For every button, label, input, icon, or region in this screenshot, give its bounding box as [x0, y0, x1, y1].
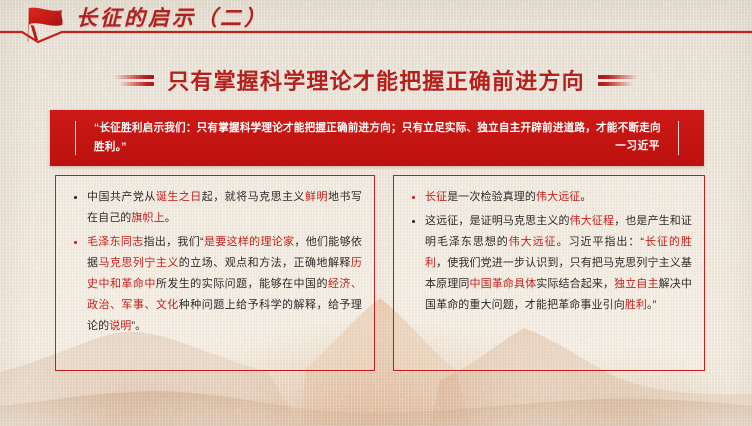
body-text: 起，就将马克思主义	[202, 191, 305, 203]
title-decoration-right-icon	[598, 73, 638, 88]
body-text: 这远征，是证明马克思主义的	[425, 215, 570, 227]
highlighted-text: 说明	[109, 320, 131, 332]
quote-accent-bar-left	[75, 121, 76, 155]
highlighted-text: 伟大征程	[570, 215, 615, 227]
left-content-box: 中国共产党从诞生之日起，就将马克思主义鲜明地书写在自己的旗帜上。毛泽东同志指出，…	[55, 175, 375, 371]
body-text: 。”	[647, 299, 656, 311]
title-decoration-left-icon	[114, 73, 154, 88]
left-bullet-list: 中国共产党从诞生之日起，就将马克思主义鲜明地书写在自己的旗帜上。毛泽东同志指出，…	[56, 176, 374, 337]
body-text: ”。	[131, 320, 146, 332]
body-text: 所发生的实际问题，能够在中国的	[156, 278, 328, 290]
body-text: 指出，我们“	[144, 236, 204, 248]
body-text: 是一次检验真理的	[447, 191, 536, 203]
body-text: 中国共产党从	[87, 191, 156, 203]
main-title-row: 只有掌握科学理论才能把握正确前进方向	[0, 64, 752, 96]
highlighted-text: 伟大远征	[509, 236, 557, 248]
slide-canvas: 长征的启示（二） 只有掌握科学理论才能把握正确前进方向 “长征胜利启示我们：只有…	[0, 0, 752, 426]
list-item: 长征是一次检验真理的伟大远征。	[404, 187, 692, 208]
highlighted-text: 旗帜上	[131, 212, 164, 224]
body-text: 的立场、观点和方法，正确地解释	[179, 257, 351, 269]
highlighted-text: 诞生之日	[156, 191, 202, 203]
highlighted-text: 毛泽东同志	[87, 236, 144, 248]
body-text: 。习近平指出：“	[557, 236, 645, 248]
quote-banner: “长征胜利启示我们：只有掌握科学理论才能把握正确前进方向；只有立足实际、独立自主…	[50, 110, 704, 166]
highlighted-text: 胜利	[625, 299, 647, 311]
highlighted-text: 马克思列宁主义	[98, 257, 178, 269]
quote-author: 一习近平	[615, 138, 660, 153]
highlighted-text: 是要这样的理论家	[204, 236, 295, 248]
highlighted-text: 伟大远征	[536, 191, 580, 203]
header-title: 长征的启示（二）	[76, 2, 268, 32]
page-title: 只有掌握科学理论才能把握正确前进方向	[167, 64, 585, 96]
highlighted-text: 中国革命具体	[470, 278, 537, 290]
list-item: 这远征，是证明马克思主义的伟大征程，也是产生和证明毛泽东思想的伟大远征。习近平指…	[404, 211, 692, 316]
highlighted-text: 长征	[425, 191, 447, 203]
highlighted-text: 鲜明	[305, 191, 328, 203]
red-flag-icon	[20, 4, 72, 44]
highlighted-text: 独立自主	[614, 278, 659, 290]
slide-header: 长征的启示（二）	[0, 0, 752, 44]
body-text: 。	[165, 212, 176, 224]
right-bullet-list: 长征是一次检验真理的伟大远征。这远征，是证明马克思主义的伟大征程，也是产生和证明…	[394, 176, 704, 316]
quote-accent-bar-right	[678, 121, 679, 155]
right-content-box: 长征是一次检验真理的伟大远征。这远征，是证明马克思主义的伟大征程，也是产生和证明…	[393, 175, 705, 371]
body-text: 实际结合起来，	[536, 278, 614, 290]
body-text: 。	[580, 191, 591, 203]
list-item: 中国共产党从诞生之日起，就将马克思主义鲜明地书写在自己的旗帜上。	[66, 187, 362, 229]
quote-text: “长征胜利启示我们：只有掌握科学理论才能把握正确前进方向；只有立足实际、独立自主…	[94, 119, 666, 157]
list-item: 毛泽东同志指出，我们“是要这样的理论家，他们能够依据马克思列宁主义的立场、观点和…	[66, 232, 362, 337]
